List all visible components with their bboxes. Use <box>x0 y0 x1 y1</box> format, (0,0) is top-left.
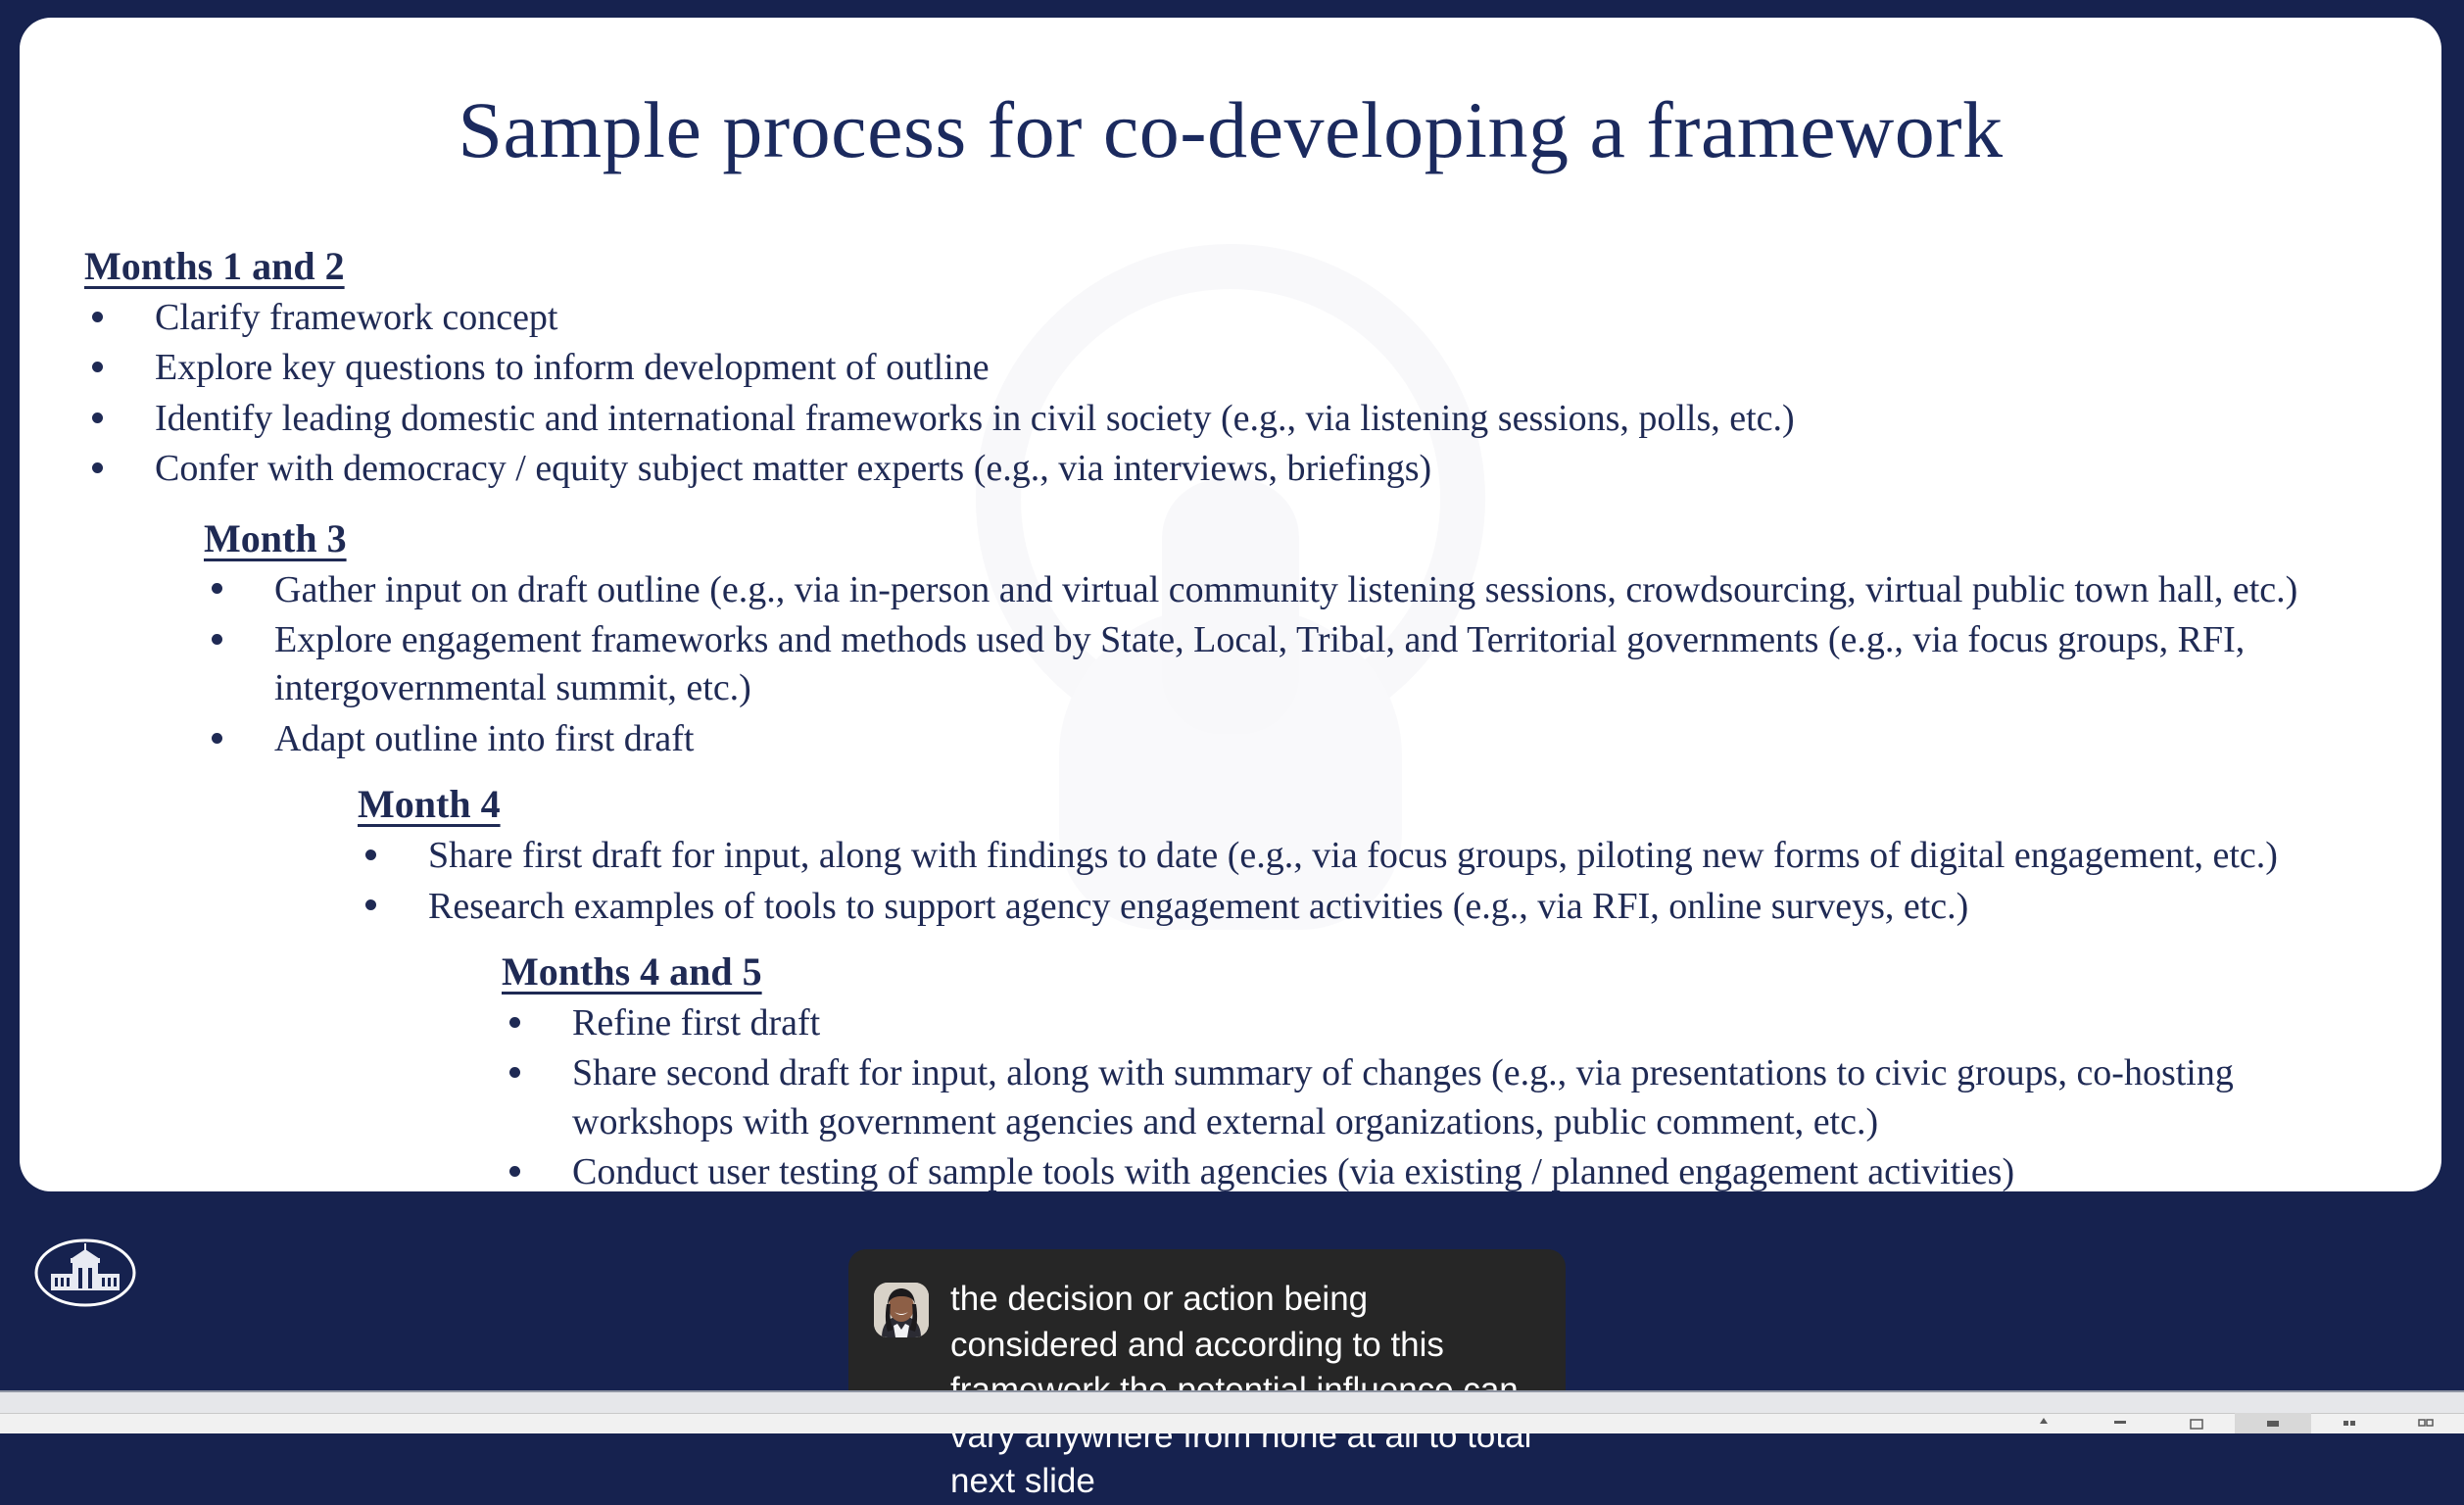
list-item: Conduct user testing of sample tools wit… <box>502 1148 2402 1191</box>
bullet-dot-icon <box>509 1067 520 1078</box>
reading-view-icon[interactable] <box>2235 1413 2311 1433</box>
bullet-dot-icon <box>509 1166 520 1177</box>
bullet-text: Gather input on draft outline (e.g., via… <box>274 566 2389 614</box>
application-status-bar <box>0 1390 2464 1433</box>
bullet-dot-icon <box>509 1017 520 1028</box>
section-heading: Month 3 <box>204 513 2389 564</box>
bullet-list: Refine first draft Share second draft fo… <box>502 999 2402 1191</box>
bullet-dot-icon <box>212 733 222 744</box>
outline-view-icon[interactable] <box>2082 1413 2158 1433</box>
list-item: Share second draft for input, along with… <box>502 1049 2402 1146</box>
list-item: Refine first draft <box>502 999 2402 1047</box>
bullet-dot-icon <box>92 312 103 322</box>
white-house-seal-icon <box>31 1233 139 1313</box>
list-item: Gather input on draft outline (e.g., via… <box>204 566 2389 614</box>
presenter-view-icon[interactable] <box>2388 1413 2464 1433</box>
bullet-text: Identify leading domestic and internatio… <box>155 395 2377 443</box>
view-mode-buttons <box>2005 1413 2464 1433</box>
section-month-3: Month 3 Gather input on draft outline (e… <box>204 513 2389 764</box>
bullet-dot-icon <box>365 850 376 860</box>
list-item: Explore engagement frameworks and method… <box>204 616 2389 713</box>
view-toolbar <box>0 1413 2464 1433</box>
section-heading: Months 1 and 2 <box>84 241 2377 292</box>
bullet-text: Adapt outline into first draft <box>274 715 2389 763</box>
list-item: Confer with democracy / equity subject m… <box>84 445 2377 493</box>
slide-card: Sample process for co-developing a frame… <box>20 18 2441 1191</box>
list-item: Research examples of tools to support ag… <box>358 883 2395 931</box>
section-month-4: Month 4 Share first draft for input, alo… <box>358 779 2395 931</box>
bullet-text: Confer with democracy / equity subject m… <box>155 445 2377 493</box>
slide-body: Months 1 and 2 Clarify framework concept… <box>20 241 2441 1191</box>
normal-view-icon[interactable] <box>2005 1413 2082 1433</box>
page-title: Sample process for co-developing a frame… <box>20 88 2441 172</box>
bullet-dot-icon <box>92 462 103 473</box>
list-item: Explore key questions to inform developm… <box>84 344 2377 392</box>
slide-sorter-view-icon[interactable] <box>2158 1413 2235 1433</box>
bullet-text: Explore key questions to inform developm… <box>155 344 2377 392</box>
section-heading: Month 4 <box>358 779 2395 830</box>
list-item: Identify leading domestic and internatio… <box>84 395 2377 443</box>
section-months-1-and-2: Months 1 and 2 Clarify framework concept… <box>84 241 2377 494</box>
bullet-text: Refine first draft <box>572 999 2402 1047</box>
bullet-list: Clarify framework concept Explore key qu… <box>84 294 2377 494</box>
list-item: Share first draft for input, along with … <box>358 832 2395 880</box>
bullet-list: Gather input on draft outline (e.g., via… <box>204 566 2389 764</box>
list-item: Clarify framework concept <box>84 294 2377 342</box>
section-heading: Months 4 and 5 <box>502 947 2402 997</box>
bullet-text: Research examples of tools to support ag… <box>428 883 2395 931</box>
bullet-dot-icon <box>92 413 103 423</box>
bullet-text: Share first draft for input, along with … <box>428 832 2395 880</box>
bullet-text: Clarify framework concept <box>155 294 2377 342</box>
bullet-dot-icon <box>212 583 222 594</box>
bullet-text: Explore engagement frameworks and method… <box>274 616 2389 713</box>
bullet-list: Share first draft for input, along with … <box>358 832 2395 931</box>
bullet-text: Conduct user testing of sample tools wit… <box>572 1148 2402 1191</box>
presentation-stage: Sample process for co-developing a frame… <box>0 0 2464 1390</box>
speaker-avatar <box>874 1283 929 1337</box>
notes-view-icon[interactable] <box>2311 1413 2388 1433</box>
bullet-dot-icon <box>212 634 222 645</box>
bullet-dot-icon <box>365 899 376 910</box>
bullet-dot-icon <box>92 362 103 372</box>
bullet-text: Share second draft for input, along with… <box>572 1049 2402 1146</box>
section-months-4-and-5: Months 4 and 5 Refine first draft Share … <box>502 947 2402 1191</box>
list-item: Adapt outline into first draft <box>204 715 2389 763</box>
